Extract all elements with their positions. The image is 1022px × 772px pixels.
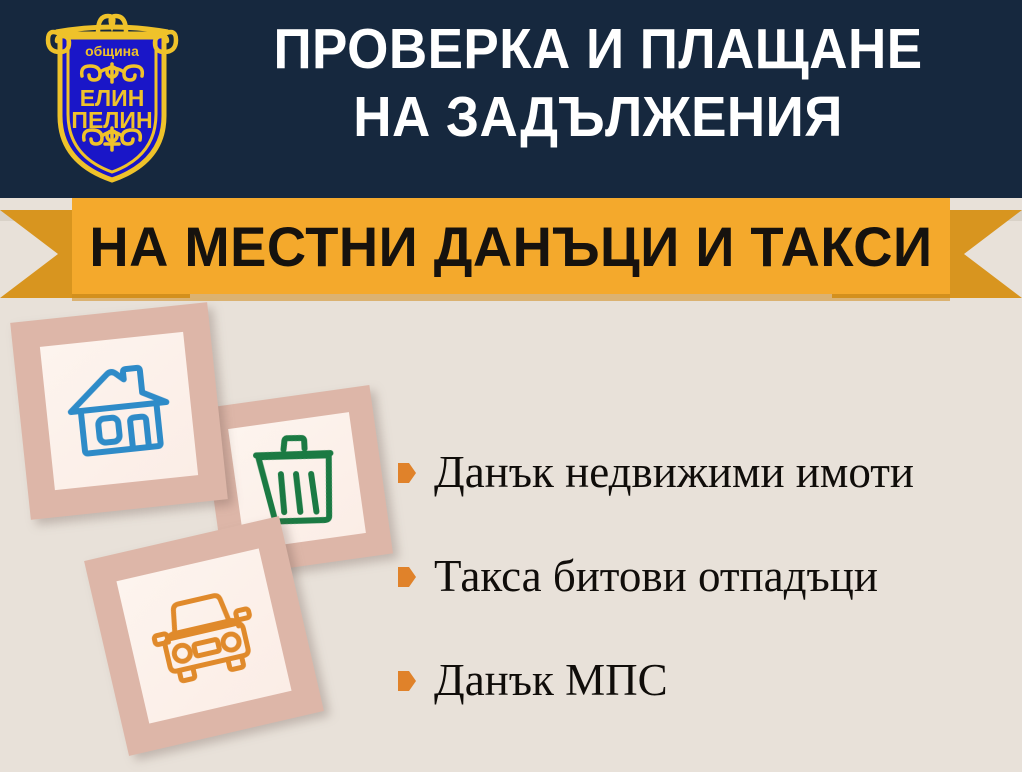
list-item[interactable]: Данък МПС [398,628,1018,732]
coat-of-arms-emblem: община ЕЛИН ПЕЛИН [38,8,186,188]
header-banner: община ЕЛИН ПЕЛИН ПРОВЕРКА И ПЛАЩАНЕ НА … [0,0,1022,198]
ribbon-subtitle: НА МЕСТНИ ДАНЪЦИ И ТАКСИ [85,198,937,294]
page-title: ПРОВЕРКА И ПЛАЩАНЕ НА ЗАДЪЛЖЕНИЯ [219,16,978,152]
bullet-arrow-icon [398,565,416,589]
ribbon-banner: НА МЕСТНИ ДАНЪЦИ И ТАКСИ [0,198,1022,310]
list-item[interactable]: Такса битови отпадъци [398,524,1018,628]
poster-canvas: община ЕЛИН ПЕЛИН ПРОВЕРКА И ПЛАЩАНЕ НА … [0,0,1022,772]
emblem-line-pelin: ПЕЛИН [71,107,152,133]
stamp-property-tax [10,302,228,520]
emblem-line-obshtina: община [85,43,139,59]
house-icon [40,332,198,490]
bullet-arrow-icon [398,461,416,485]
list-item-label: Такса битови отпадъци [434,554,878,599]
tax-type-list: Данък недвижими имоти Такса битови отпад… [398,420,1018,732]
ribbon-band-shadow [72,294,950,301]
list-item-label: Данък недвижими имоти [434,450,914,495]
bullet-arrow-icon [398,669,416,693]
list-item[interactable]: Данък недвижими имоти [398,420,1018,524]
list-item-label: Данък МПС [434,658,668,703]
